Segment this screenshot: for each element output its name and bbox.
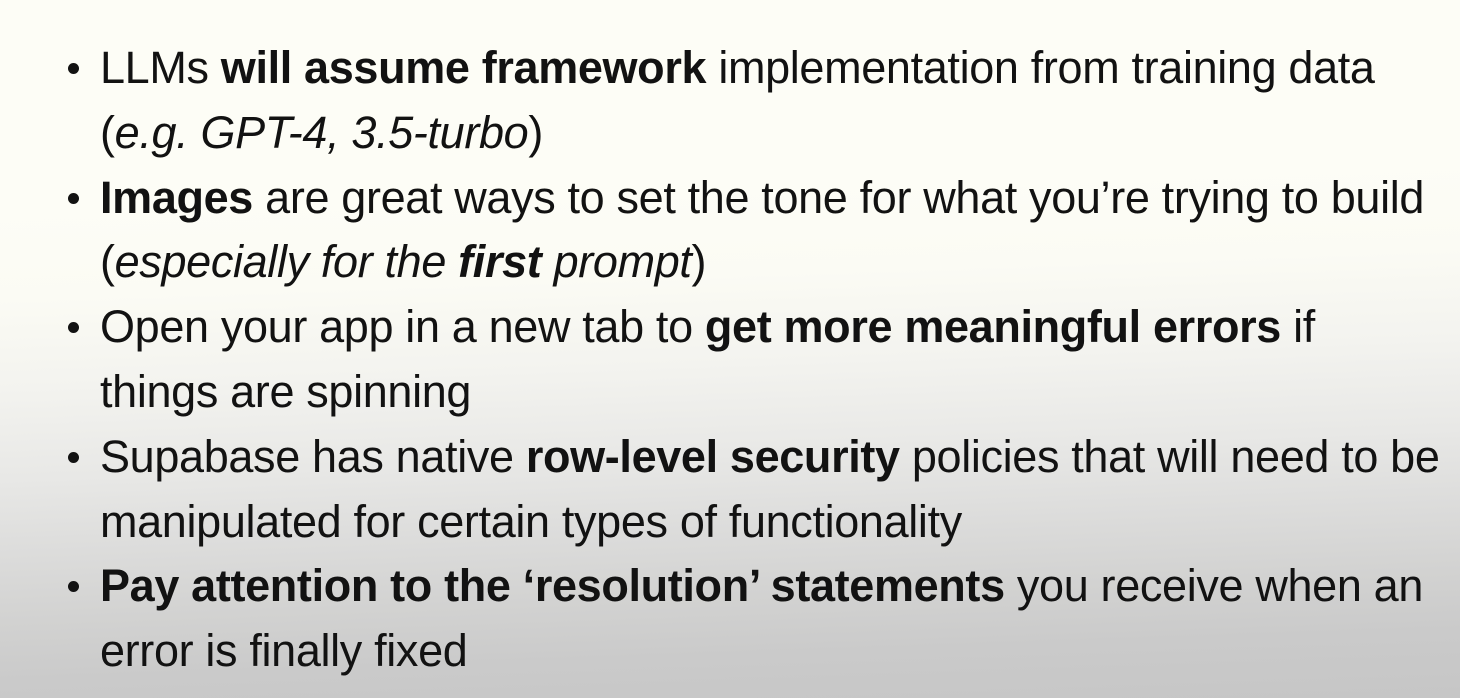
bullet-text: Images are great ways to set the tone fo… xyxy=(100,172,1424,288)
text-run-bold: Images xyxy=(100,172,253,223)
text-run-normal: LLMs xyxy=(100,42,221,93)
bullet-supabase-row-level-security: Supabase has native row-level security p… xyxy=(0,425,1460,555)
text-run-normal: Open your app in a new tab to xyxy=(100,301,705,352)
bullet-text: Pay attention to the ‘resolution’ statem… xyxy=(100,560,1423,676)
bullet-images-set-tone: Images are great ways to set the tone fo… xyxy=(0,166,1460,296)
bullet-dot-icon xyxy=(68,193,79,204)
text-run-bold-italic: first xyxy=(458,236,541,287)
bullet-open-app-new-tab: Open your app in a new tab to get more m… xyxy=(0,295,1460,425)
text-run-italic: especially for the xyxy=(115,236,459,287)
text-run-normal: ) xyxy=(692,236,707,287)
text-run-italic: e.g. GPT-4, 3.5-turbo xyxy=(115,107,529,158)
bullet-llms-assume-framework: LLMs will assume framework implementatio… xyxy=(0,36,1460,166)
bullet-dot-icon xyxy=(68,322,79,333)
bullet-text: LLMs will assume framework implementatio… xyxy=(100,42,1375,158)
text-run-normal: ) xyxy=(528,107,543,158)
text-run-bold: will assume framework xyxy=(221,42,706,93)
bullet-resolution-statements: Pay attention to the ‘resolution’ statem… xyxy=(0,554,1460,684)
text-run-bold: Pay attention to the ‘resolution’ statem… xyxy=(100,560,1005,611)
text-run-bold: row-level security xyxy=(526,431,900,482)
text-run-bold: get more meaningful errors xyxy=(705,301,1281,352)
bullet-dot-icon xyxy=(68,63,79,74)
text-run-italic: prompt xyxy=(541,236,691,287)
bullet-text: Supabase has native row-level security p… xyxy=(100,431,1440,547)
bullet-dot-icon xyxy=(68,452,79,463)
bullet-list: LLMs will assume framework implementatio… xyxy=(0,0,1460,684)
slide-canvas: LLMs will assume framework implementatio… xyxy=(0,0,1460,698)
text-run-normal: Supabase has native xyxy=(100,431,526,482)
bullet-dot-icon xyxy=(68,581,79,592)
bullet-text: Open your app in a new tab to get more m… xyxy=(100,301,1315,417)
